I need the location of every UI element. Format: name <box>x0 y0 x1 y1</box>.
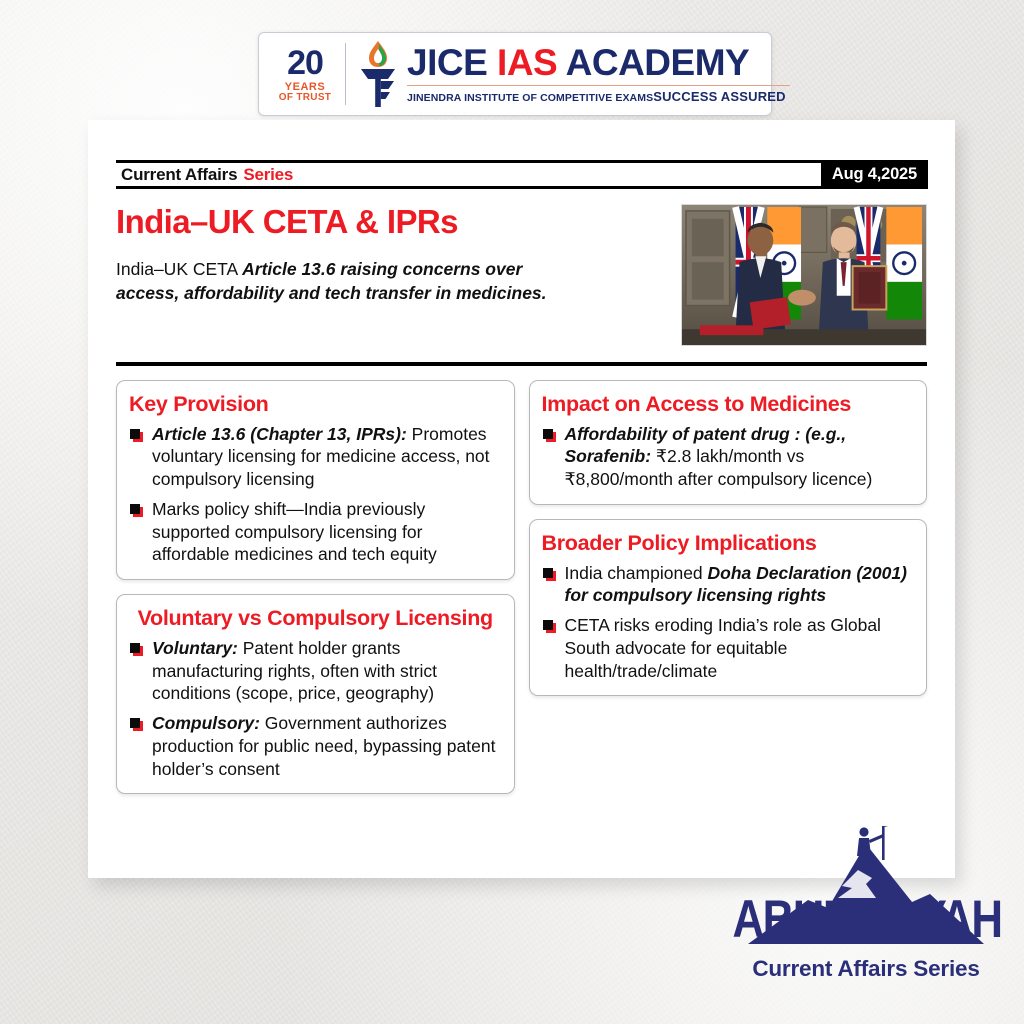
series-label-highlight: Series <box>243 165 293 185</box>
infographic-page: Current AffairsSeries Aug 4,2025 India–U… <box>88 120 955 878</box>
card-key-provision: Key Provision Article 13.6 (Chapter 13, … <box>116 380 515 580</box>
hero-photo <box>681 204 927 346</box>
square-bullet-icon <box>543 429 556 442</box>
square-bullet-icon <box>130 429 143 442</box>
list-item: Voluntary: Patent holder grants manufact… <box>129 637 502 705</box>
card-title: Key Provision <box>129 392 502 417</box>
card-columns: Key Provision Article 13.6 (Chapter 13, … <box>116 366 927 794</box>
logo-underline-rule <box>407 85 790 86</box>
flame-lamp-icon <box>355 39 401 109</box>
academy-name-ias: IAS <box>497 42 557 83</box>
card-title: Impact on Access to Medicines <box>542 392 915 417</box>
years-number: 20 <box>269 46 341 80</box>
logo-subtitle-row: JINENDRA INSTITUTE OF COMPETITIVE EXAMS … <box>407 89 790 104</box>
mountain-climber-flag-icon: ABHIPRAYAH <box>716 826 1016 954</box>
academy-name-academy: ACADEMY <box>557 42 749 83</box>
jice-academy-logo-bar: 20 YEARS OF TRUST JICE IAS ACADEMY JINEN… <box>258 32 772 116</box>
list-item: India championed Doha Declaration (2001)… <box>542 562 915 608</box>
hero-section: India–UK CETA & IPRs India–UK CETA Artic… <box>116 189 927 346</box>
list-item: Compulsory: Government authorizes produc… <box>129 712 502 780</box>
card-impact-on-access-to-medicines: Impact on Access to Medicines Affordabil… <box>529 380 928 505</box>
bullet-text: India championed <box>565 563 708 583</box>
bullet-emphasis: Voluntary: <box>152 638 238 658</box>
square-bullet-icon <box>130 718 143 731</box>
bullet-emphasis: Article 13.6 (Chapter 13, IPRs): <box>152 424 407 444</box>
square-bullet-icon <box>130 504 143 517</box>
bullet-list: Voluntary: Patent holder grants manufact… <box>129 637 502 781</box>
square-bullet-icon <box>130 643 143 656</box>
list-item: CETA risks eroding India’s role as Globa… <box>542 614 915 682</box>
list-item: Article 13.6 (Chapter 13, IPRs): Promote… <box>129 423 502 491</box>
card-title: Broader Policy Implications <box>542 531 915 556</box>
logo-text-block: JICE IAS ACADEMY JINENDRA INSTITUTE OF C… <box>401 44 790 104</box>
of-trust-word: OF TRUST <box>269 93 341 103</box>
bullet-list: Affordability of patent drug : (e.g., So… <box>542 423 915 491</box>
left-column: Key Provision Article 13.6 (Chapter 13, … <box>116 380 515 794</box>
bullet-text: Marks policy shift—India previously supp… <box>152 499 437 565</box>
intro-plain-text: India–UK CETA <box>116 259 242 279</box>
intro-paragraph: India–UK CETA Article 13.6 raising conce… <box>116 258 581 305</box>
academy-name-jice: JICE <box>407 42 497 83</box>
list-item: Affordability of patent drug : (e.g., So… <box>542 423 915 491</box>
list-item: Marks policy shift—India previously supp… <box>129 498 502 566</box>
abhiprayah-brand-block: ABHIPRAYAH Current Affairs Series <box>716 826 1016 982</box>
twenty-years-of-trust-badge: 20 YEARS OF TRUST <box>269 46 341 103</box>
years-word: YEARS <box>269 82 341 93</box>
right-column: Impact on Access to Medicines Affordabil… <box>529 380 928 794</box>
success-assured-tagline: SUCCESS ASSURED <box>653 89 790 104</box>
bullet-text: CETA risks eroding India’s role as Globa… <box>565 615 881 681</box>
header-strip: Current AffairsSeries Aug 4,2025 <box>116 160 927 189</box>
logo-divider <box>345 43 346 105</box>
series-label-prefix: Current Affairs <box>121 165 237 185</box>
square-bullet-icon <box>543 620 556 633</box>
series-label: Current AffairsSeries <box>116 163 821 186</box>
card-voluntary-vs-compulsory-licensing: Voluntary vs Compulsory Licensing Volunt… <box>116 594 515 794</box>
brand-tagline: Current Affairs Series <box>716 956 1016 982</box>
card-broader-policy-implications: Broader Policy Implications India champi… <box>529 519 928 696</box>
academy-name: JICE IAS ACADEMY <box>407 44 790 81</box>
bullet-emphasis: Compulsory: <box>152 713 260 733</box>
hero-text-block: India–UK CETA & IPRs India–UK CETA Artic… <box>116 204 681 346</box>
page-title: India–UK CETA & IPRs <box>116 204 663 240</box>
date-badge: Aug 4,2025 <box>821 160 928 189</box>
institute-full-name: JINENDRA INSTITUTE OF COMPETITIVE EXAMS <box>407 92 653 104</box>
bullet-list: India championed Doha Declaration (2001)… <box>542 562 915 683</box>
brand-wordmark: ABHIPRAYAH <box>732 890 1001 949</box>
square-bullet-icon <box>543 568 556 581</box>
card-title: Voluntary vs Compulsory Licensing <box>129 606 502 631</box>
bullet-list: Article 13.6 (Chapter 13, IPRs): Promote… <box>129 423 502 567</box>
